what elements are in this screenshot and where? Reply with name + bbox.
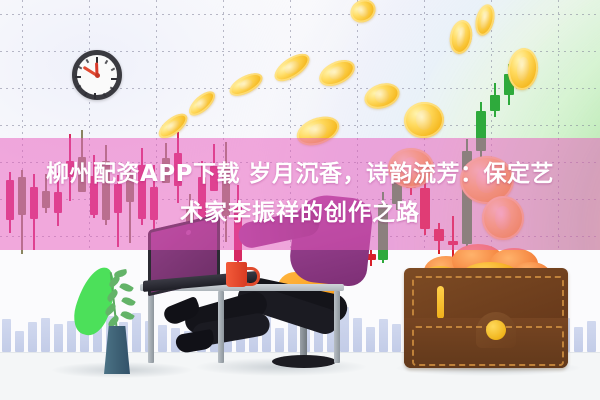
clock-tick [111, 78, 117, 80]
wallet-card-tab [437, 286, 444, 319]
candle-body [490, 95, 500, 111]
clock-tick [78, 66, 82, 70]
wall-clock [72, 50, 122, 100]
clock-hub [95, 73, 100, 78]
clock-tick [84, 92, 88, 96]
desk-leg-right [334, 291, 340, 363]
desk-leg-left [148, 291, 154, 363]
clock-tick [111, 68, 115, 72]
coffee-mug [226, 262, 247, 287]
wallet-snap-button [486, 320, 506, 340]
clock-tick [105, 60, 109, 64]
clock-tick [103, 93, 107, 97]
headline: 柳州配资APP下载 岁月沉香，诗韵流芳：保定艺 术家李振祥的创作之路 [0, 138, 600, 250]
headline-line-1: 柳州配资APP下载 岁月沉香，诗韵流芳：保定艺 [46, 155, 554, 194]
clock-tick [77, 85, 81, 89]
clock-tick [110, 87, 114, 91]
clock-tick [86, 59, 90, 63]
headline-line-2: 术家李振祥的创作之路 [180, 194, 420, 233]
chair-base [272, 355, 336, 368]
desk-leg-mid [218, 291, 224, 363]
clock-tick [75, 76, 81, 78]
banner-image: 柳州配资APP下载 岁月沉香，诗韵流芳：保定艺 术家李振祥的创作之路 [0, 0, 600, 400]
clock-tick [94, 93, 96, 99]
